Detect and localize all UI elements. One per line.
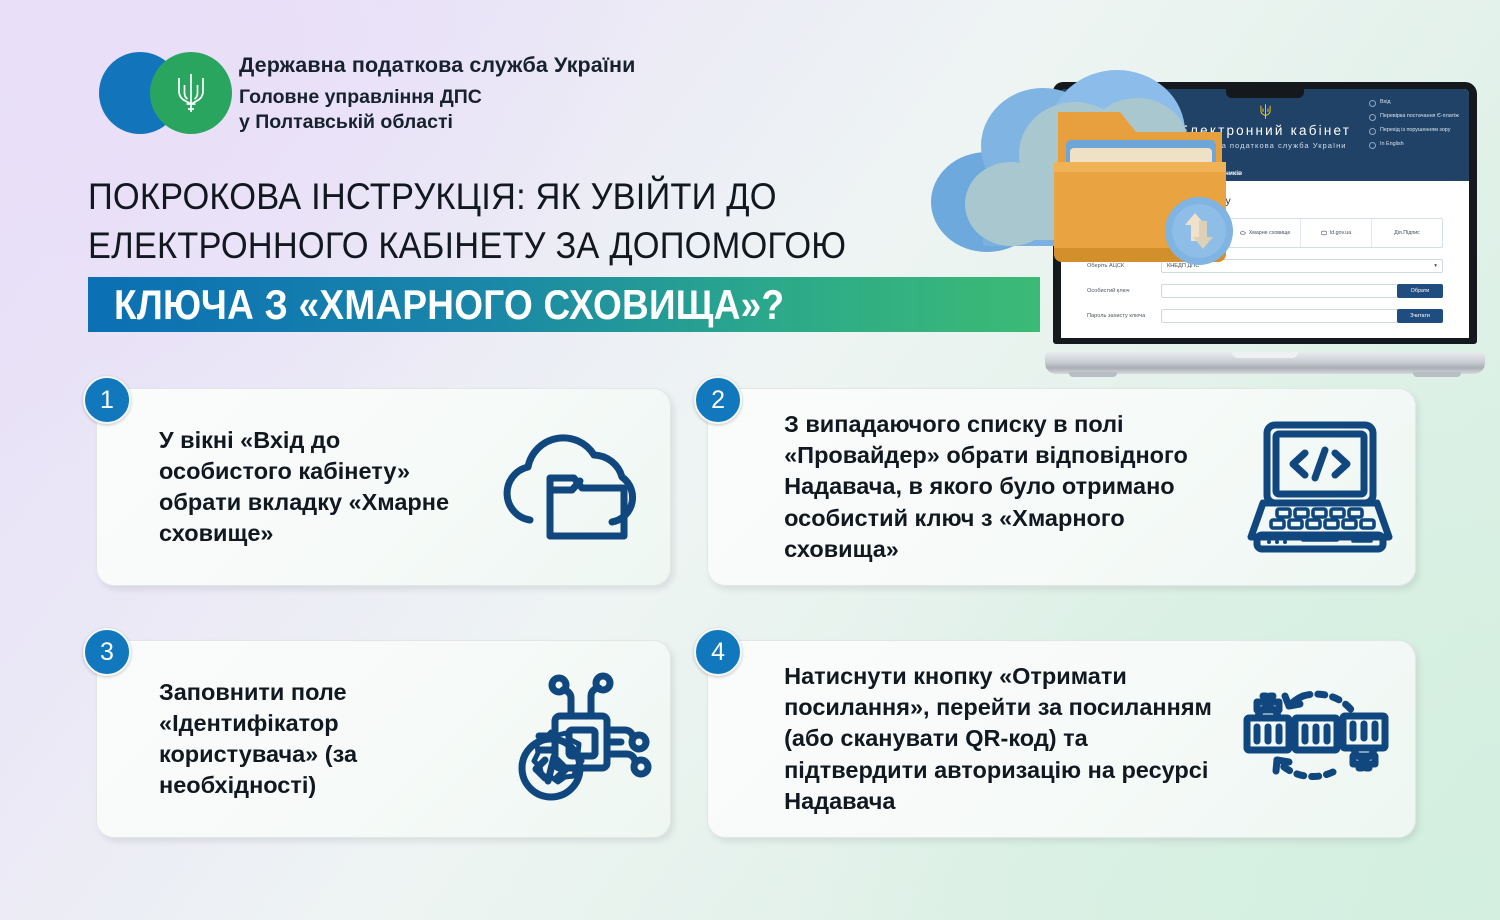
infographic-poster: Державна податкова служба України Головн… <box>0 0 1500 920</box>
ek-utility-login[interactable]: Вхід <box>1369 99 1461 107</box>
step-icon-3-wrap <box>480 664 670 814</box>
ek-utility-nav[interactable]: Вхід Перевірка постачання Є-платіж Перех… <box>1369 99 1461 155</box>
step-card-2: 2 З випадаючого списку в полі «Провайдер… <box>707 388 1416 586</box>
ek-utility-label-3[interactable]: In English <box>1380 141 1404 148</box>
logo-circle-green <box>150 52 232 134</box>
org-dept-line: Головне управління ДПС <box>239 85 635 110</box>
step-text-4: Натиснути кнопку «Отримати посилання», п… <box>708 661 1225 817</box>
step-text-1: У вікні «Вхід до особистого кабінету» об… <box>97 425 480 550</box>
server-sync-icon <box>1233 672 1408 807</box>
step-card-1: 1 У вікні «Вхід до особистого кабінету» … <box>96 388 671 586</box>
cloud-folder-icon <box>488 420 663 555</box>
step-badge-4: 4 <box>694 628 742 676</box>
title-banner: КЛЮЧА З «ХМАРНОГО СХОВИЩА»? <box>88 277 1040 332</box>
steps-row-bottom: 3 Заповнити поле «Ідентифікатор користув… <box>96 640 1416 838</box>
globe-icon <box>1369 142 1376 149</box>
step-icon-1-wrap <box>480 420 670 555</box>
key-password-input[interactable] <box>1161 309 1398 323</box>
banner-title: КЛЮЧА З «ХМАРНОГО СХОВИЩА»? <box>114 281 784 329</box>
step-badge-1: 1 <box>83 376 131 424</box>
step-icon-4-wrap <box>1225 672 1415 807</box>
ek-label-private-key: Особистий ключ <box>1087 288 1161 294</box>
login-icon <box>1369 100 1376 107</box>
camera-notch <box>1226 89 1304 98</box>
ek-utility-label-2[interactable]: Перехід із порушенням зору <box>1380 127 1450 134</box>
logo-circles <box>99 52 227 134</box>
tab-id-gov-ua-label: Id.gov.ua <box>1330 230 1351 237</box>
chevron-down-icon: ▾ <box>1434 263 1437 269</box>
tab-cloud-storage-label: Хмарне сховище <box>1249 230 1291 237</box>
ek-utility-language[interactable]: In English <box>1369 141 1461 149</box>
laptop-base <box>1045 352 1485 374</box>
step-card-3: 3 Заповнити поле «Ідентифікатор користув… <box>96 640 671 838</box>
hero-illustration: Електронний кабінет Державна податкова с… <box>905 40 1500 360</box>
ek-trident-icon <box>1259 103 1272 120</box>
tab-diia-signature-label: Дія.Підпис <box>1394 230 1420 237</box>
laptop-foot-left <box>1069 372 1117 377</box>
organization-logo: Державна податкова служба України Головн… <box>99 52 635 135</box>
tab-cloud-storage[interactable]: Хмарне сховище <box>1230 219 1301 247</box>
ek-utility-label-0[interactable]: Вхід <box>1380 99 1391 106</box>
ek-utility-check[interactable]: Перевірка постачання Є-платіж <box>1369 113 1461 121</box>
choose-file-button[interactable]: Обрати <box>1397 284 1443 298</box>
ek-utility-label-1[interactable]: Перевірка постачання Є-платіж <box>1380 113 1459 120</box>
logo-text-block: Державна податкова служба України Головн… <box>239 52 635 135</box>
private-key-input[interactable] <box>1161 284 1398 298</box>
info-icon <box>1369 114 1376 121</box>
eye-icon <box>1369 128 1376 135</box>
trident-icon <box>174 71 208 115</box>
ek-label-key-password: Пароль захисту ключа <box>1087 313 1161 319</box>
laptop-code-icon <box>1245 417 1395 557</box>
id-icon <box>1321 230 1327 236</box>
step-text-3: Заповнити поле «Ідентифікатор користувач… <box>97 677 480 802</box>
steps-grid: 1 У вікні «Вхід до особистого кабінету» … <box>96 388 1416 892</box>
step-text-2: З випадаючого списку в полі «Провайдер» … <box>708 409 1225 565</box>
org-name-line-1: Державна податкова служба України <box>239 52 635 79</box>
org-region-line: у Полтавській області <box>239 110 635 135</box>
laptop-base-notch <box>1232 352 1298 358</box>
tab-id-gov-ua[interactable]: Id.gov.ua <box>1301 219 1372 247</box>
laptop-foot-right <box>1413 372 1461 377</box>
org-name-line-2: Головне управління ДПС у Полтавській обл… <box>239 85 635 135</box>
step-badge-2: 2 <box>694 376 742 424</box>
cloud-icon <box>1240 230 1246 236</box>
step-icon-2-wrap <box>1225 417 1415 557</box>
step-card-4: 4 Натиснути кнопку «Отримати посилання»,… <box>707 640 1416 838</box>
steps-row-top: 1 У вікні «Вхід до особистого кабінету» … <box>96 388 1416 586</box>
tab-diia-signature[interactable]: Дія.Підпис <box>1372 219 1442 247</box>
read-key-button[interactable]: Зчитати <box>1397 309 1443 323</box>
ek-utility-accessibility[interactable]: Перехід із порушенням зору <box>1369 127 1461 135</box>
sync-arrows-icon <box>1163 195 1235 267</box>
chip-gear-code-icon <box>493 664 658 814</box>
ek-field-key-password: Пароль захисту ключа Зчитати <box>1087 309 1443 323</box>
step-badge-3: 3 <box>83 628 131 676</box>
ek-field-private-key: Особистий ключ Обрати <box>1087 284 1443 298</box>
